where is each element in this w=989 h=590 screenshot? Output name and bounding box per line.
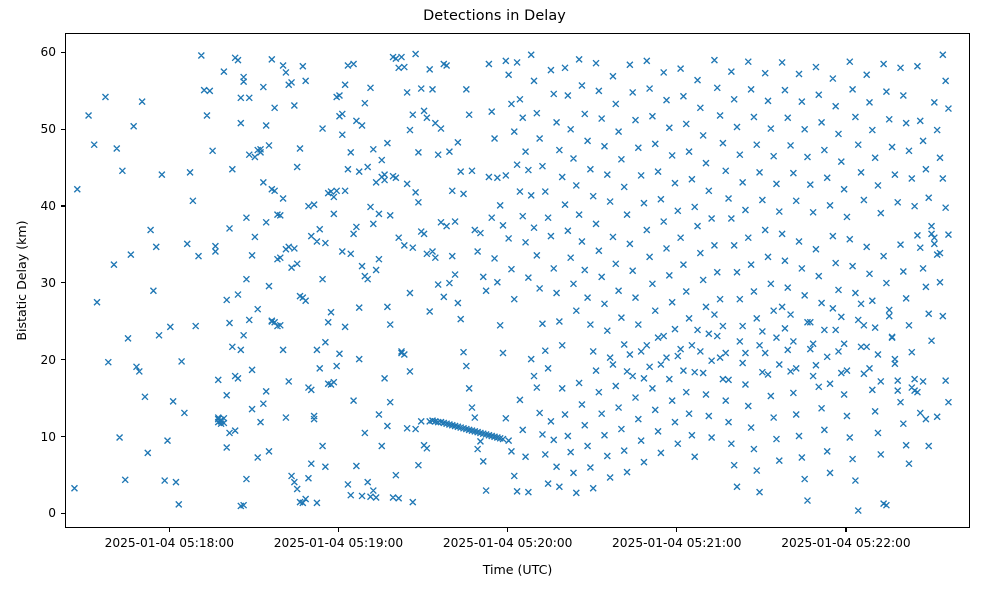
x-tick-label: 2025-01-04 05:18:00 [105, 536, 234, 550]
x-tick-label: 2025-01-04 05:22:00 [781, 536, 910, 550]
y-tick-label: 20 [20, 353, 56, 367]
x-tick-mark [676, 528, 677, 532]
scatter-layer [66, 34, 970, 528]
y-tick-label: 0 [20, 506, 56, 520]
chart-title: Detections in Delay [0, 8, 989, 24]
matplotlib-figure: Detections in Delay Bistatic Delay (km) … [0, 0, 989, 590]
y-tick-label: 10 [20, 430, 56, 444]
y-tick-label: 50 [20, 122, 56, 136]
y-tick-label: 40 [20, 199, 56, 213]
x-tick-mark [845, 528, 846, 532]
x-axis-label: Time (UTC) [65, 562, 970, 577]
plot-area[interactable] [65, 33, 970, 528]
x-tick-label: 2025-01-04 05:21:00 [612, 536, 741, 550]
y-tick-label: 30 [20, 276, 56, 290]
scatter-markers [71, 51, 951, 514]
x-tick-mark [338, 528, 339, 532]
x-tick-label: 2025-01-04 05:20:00 [443, 536, 572, 550]
x-tick-mark [507, 528, 508, 532]
x-tick-label: 2025-01-04 05:19:00 [274, 536, 403, 550]
y-tick-label: 60 [20, 45, 56, 59]
x-tick-mark [169, 528, 170, 532]
